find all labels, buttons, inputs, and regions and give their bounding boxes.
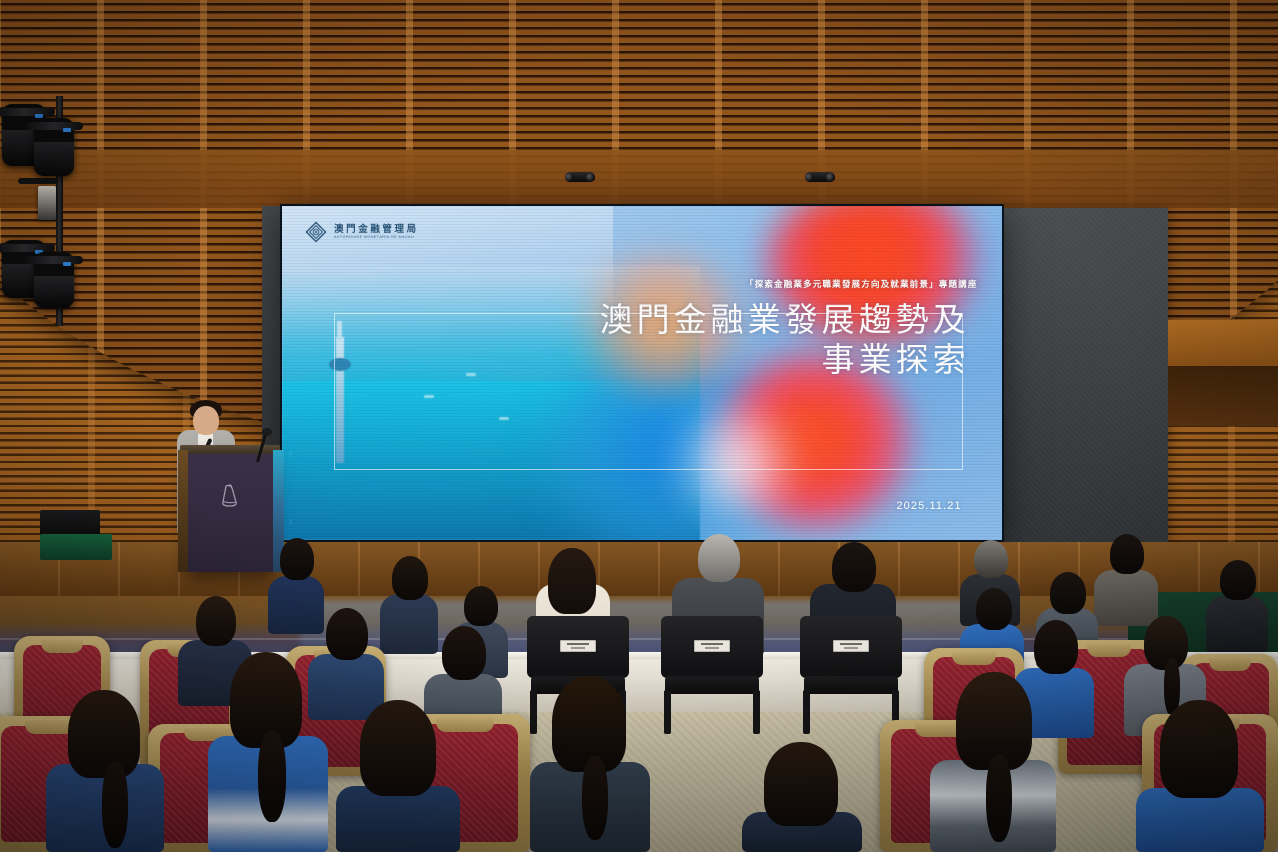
ponytail [102, 762, 128, 848]
speaker-head [193, 406, 219, 435]
podium-microphone-icon [262, 428, 272, 436]
vip-hair-grey [698, 534, 740, 582]
name-card [560, 640, 596, 652]
ponytail [986, 754, 1012, 842]
truss-arm [18, 178, 58, 184]
audience-person [1206, 560, 1268, 652]
amcm-logo: 澳門金融管理局 AUTORIDADE MONETÁRIA DE MACAU [305, 221, 419, 243]
logo-chinese-name: 澳門金融管理局 [334, 225, 419, 235]
vip-hair [548, 548, 596, 614]
ponytail [582, 756, 608, 840]
truss-control-box [38, 186, 56, 220]
right-wall-band [1168, 320, 1278, 366]
podium-bell-emblem-icon [213, 482, 247, 510]
audience-person [1094, 534, 1158, 626]
amcm-emblem-icon [305, 221, 327, 243]
ceiling-spotlight-icon [805, 172, 835, 182]
slide-subtitle: 「探索金融業多元職業發展方向及就業前景」專題講座 [745, 278, 978, 290]
vip-hair [832, 542, 876, 592]
stage-light-icon [34, 118, 74, 176]
audience-person [530, 676, 650, 852]
audience-person [1136, 700, 1264, 852]
ceiling-spotlight-icon [565, 172, 595, 182]
name-card [833, 640, 869, 652]
presentation-slide: 澳門金融管理局 AUTORIDADE MONETÁRIA DE MACAU 「探… [282, 206, 1002, 540]
slide-title: 澳門金融業發展趨勢及 事業探索 [325, 300, 969, 381]
podium-top [180, 445, 280, 454]
logo-portuguese-name: AUTORIDADE MONETÁRIA DE MACAU [334, 236, 419, 240]
slide-title-line2: 事業探索 [325, 340, 969, 380]
ponytail [258, 730, 286, 822]
audience-person [208, 652, 328, 852]
led-screen: 澳門金融管理局 AUTORIDADE MONETÁRIA DE MACAU 「探… [280, 204, 1004, 542]
podium [186, 452, 274, 572]
photo-scene: 澳門金融管理局 AUTORIDADE MONETÁRIA DE MACAU 「探… [0, 0, 1278, 852]
slide-date: 2025.11.21 [896, 500, 961, 512]
audience-person [336, 700, 460, 852]
vip-chair [800, 616, 902, 728]
stage-green-case [40, 534, 112, 560]
podium-left-trim [178, 450, 188, 572]
audience-person [930, 672, 1056, 852]
right-wall-recess [1168, 366, 1278, 426]
name-card [694, 640, 730, 652]
upper-wall-band [0, 150, 1278, 208]
audience-person [46, 690, 164, 852]
slide-title-line1: 澳門金融業發展趨勢及 [325, 300, 969, 340]
audience-person [742, 742, 862, 852]
acoustic-panel-right [1002, 208, 1168, 546]
vip-chair [661, 616, 763, 728]
stage-light-icon [34, 252, 74, 308]
